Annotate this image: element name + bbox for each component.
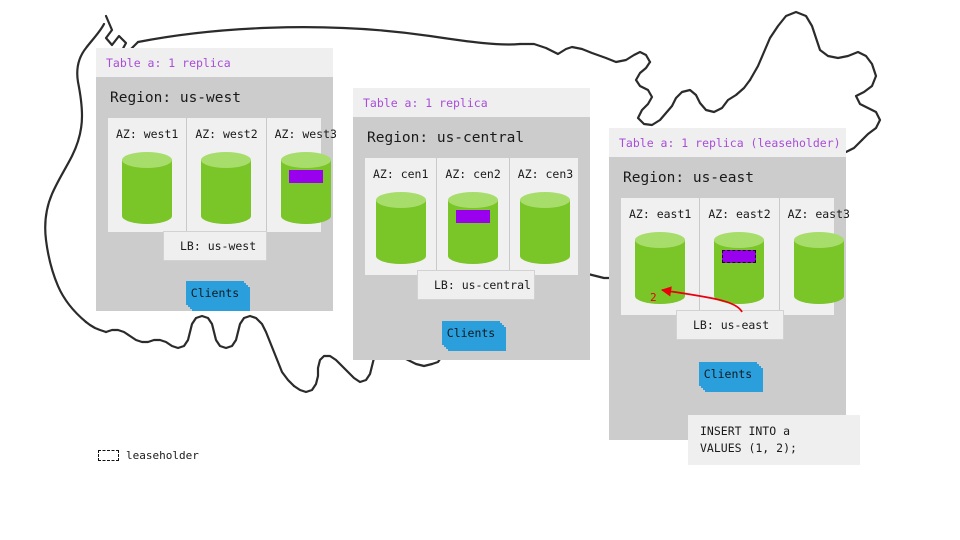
region-title: Region: us-east [609, 157, 846, 198]
cylinder-icon [122, 152, 172, 224]
cylinder-body [201, 160, 251, 216]
cylinder-top [281, 152, 331, 168]
clients-label: Clients [699, 362, 757, 386]
az-west3[interactable]: AZ: west3 [267, 118, 345, 232]
region-title: Region: us-central [353, 117, 590, 158]
legend-label: leaseholder [126, 449, 199, 462]
region-body: Region: us-east AZ: east1 AZ: east2 [609, 157, 846, 440]
legend-leaseholder: leaseholder [98, 449, 199, 462]
clients-stack-us-west[interactable]: Clients [186, 281, 244, 305]
cylinder-body [122, 160, 172, 216]
az-label: AZ: west2 [187, 127, 265, 141]
cylinder-body [635, 240, 685, 296]
region-replica-header: Table a: 1 replica [353, 88, 590, 117]
az-label: AZ: east1 [621, 207, 699, 221]
region-card-us-east: Table a: 1 replica (leaseholder) Region:… [609, 128, 846, 440]
cylinder-top [448, 192, 498, 208]
node-cylinder[interactable] [714, 232, 764, 304]
region-card-us-west: Table a: 1 replica Region: us-west AZ: w… [96, 48, 333, 311]
az-label: AZ: cen2 [437, 167, 508, 181]
cylinder-body [376, 200, 426, 256]
load-balancer-us-east[interactable]: LB: us-east [676, 310, 784, 340]
node-cylinder[interactable] [376, 192, 426, 264]
node-cylinder[interactable] [281, 152, 331, 224]
range-leaseholder-marker [722, 250, 756, 263]
az-label: AZ: east3 [780, 207, 858, 221]
leaseholder-swatch-icon [98, 450, 119, 461]
sql-statement-box: INSERT INTO a VALUES (1, 2); [688, 415, 860, 465]
clients-label: Clients [442, 321, 500, 345]
clients-label: Clients [186, 281, 244, 305]
az-label: AZ: west1 [108, 127, 186, 141]
az-label: AZ: west3 [267, 127, 345, 141]
node-cylinder[interactable] [520, 192, 570, 264]
az-west1[interactable]: AZ: west1 [108, 118, 187, 232]
load-balancer-us-west[interactable]: LB: us-west [163, 231, 267, 261]
az-cen3[interactable]: AZ: cen3 [510, 158, 581, 275]
region-card-us-central: Table a: 1 replica Region: us-central AZ… [353, 88, 590, 360]
cylinder-top [635, 232, 685, 248]
az-west2[interactable]: AZ: west2 [187, 118, 266, 232]
cylinder-top [794, 232, 844, 248]
cylinder-icon [714, 232, 764, 304]
flow-arrow-label: 2 [650, 291, 657, 304]
node-cylinder[interactable] [122, 152, 172, 224]
az-label: AZ: east2 [700, 207, 778, 221]
region-replica-header: Table a: 1 replica [96, 48, 333, 77]
node-cylinder[interactable] [448, 192, 498, 264]
az-east3[interactable]: AZ: east3 [780, 198, 858, 315]
load-balancer-us-central[interactable]: LB: us-central [417, 270, 535, 300]
az-row: AZ: cen1 AZ: cen2 [365, 158, 578, 275]
az-cen2[interactable]: AZ: cen2 [437, 158, 509, 275]
az-east2[interactable]: AZ: east2 [700, 198, 779, 315]
cylinder-icon [448, 192, 498, 264]
node-cylinder[interactable] [201, 152, 251, 224]
az-label: AZ: cen1 [365, 167, 436, 181]
cylinder-body [520, 200, 570, 256]
cylinder-icon [281, 152, 331, 224]
cylinder-body [794, 240, 844, 296]
cylinder-icon [794, 232, 844, 304]
cylinder-top [376, 192, 426, 208]
az-cen1[interactable]: AZ: cen1 [365, 158, 437, 275]
cylinder-icon [201, 152, 251, 224]
cylinder-icon [635, 232, 685, 304]
diagram-canvas: Table a: 1 replica Region: us-west AZ: w… [0, 0, 960, 540]
az-label: AZ: cen3 [510, 167, 581, 181]
cylinder-icon [520, 192, 570, 264]
clients-stack-us-central[interactable]: Clients [442, 321, 500, 345]
cylinder-top [122, 152, 172, 168]
node-cylinder[interactable] [794, 232, 844, 304]
region-body: Region: us-west AZ: west1 AZ: west2 [96, 77, 333, 311]
cylinder-body [448, 200, 498, 256]
cylinder-icon [376, 192, 426, 264]
az-row: AZ: west1 AZ: west2 [108, 118, 321, 232]
cylinder-body [281, 160, 331, 216]
range-replica-marker [289, 170, 323, 183]
cylinder-body [714, 240, 764, 296]
az-east1[interactable]: AZ: east1 [621, 198, 700, 315]
node-cylinder[interactable] [635, 232, 685, 304]
region-replica-header: Table a: 1 replica (leaseholder) [609, 128, 846, 157]
range-replica-marker [456, 210, 490, 223]
region-title: Region: us-west [96, 77, 333, 118]
clients-stack-us-east[interactable]: Clients [699, 362, 757, 386]
